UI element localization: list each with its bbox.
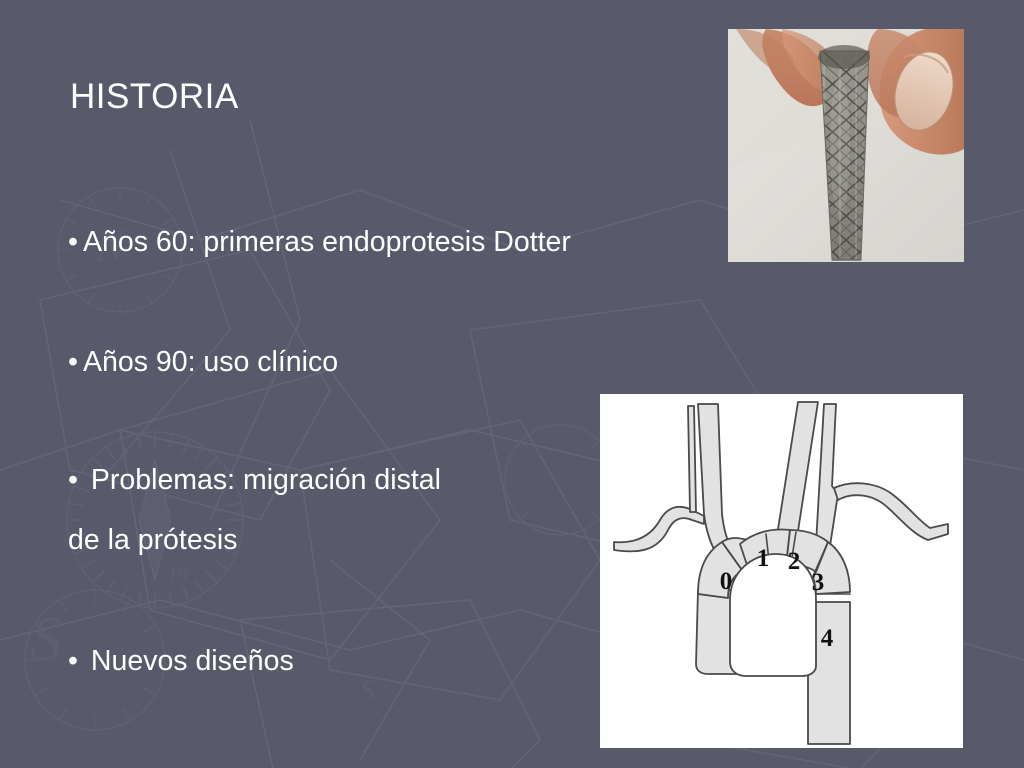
svg-text:S: S: [30, 603, 62, 674]
bullet-dot: •: [68, 346, 78, 378]
list-item-label: Años 90: uso clínico: [83, 346, 338, 378]
list-item-continuation: de la prótesis: [68, 510, 688, 570]
bullet-dot: •: [68, 226, 78, 258]
list-item: •Años 60: primeras endoprotesis Dotter: [68, 212, 688, 272]
slide: S N S m HISTORIA •Años 60: primeras endo…: [0, 0, 1024, 768]
bullet-list: •Años 60: primeras endoprotesis Dotter •…: [68, 212, 688, 691]
zone-label-3: 3: [812, 569, 825, 596]
list-item-label: Problemas: migración distal: [91, 464, 441, 496]
list-item: • Problemas: migración distal: [68, 450, 688, 510]
zone-label-1: 1: [757, 545, 770, 572]
zone-label-0: 0: [720, 568, 733, 595]
bullet-dot: •: [68, 645, 78, 677]
list-item-label: Nuevos diseños: [91, 645, 294, 677]
stent-photo-graphic: [728, 29, 964, 262]
zone-label-2: 2: [788, 548, 801, 575]
list-item-label: Años 60: primeras endoprotesis Dotter: [83, 226, 571, 258]
page-title: HISTORIA: [70, 76, 239, 118]
list-item: •Años 90: uso clínico: [68, 332, 688, 392]
aortic-arch-graphic: 0 1 2 3 4: [600, 394, 963, 748]
photo-stent: [728, 29, 964, 262]
list-item: • Nuevos diseños: [68, 631, 688, 691]
diagram-aortic-arch: 0 1 2 3 4: [600, 394, 963, 748]
zone-label-4: 4: [821, 625, 834, 652]
bullet-dot: •: [68, 464, 78, 496]
